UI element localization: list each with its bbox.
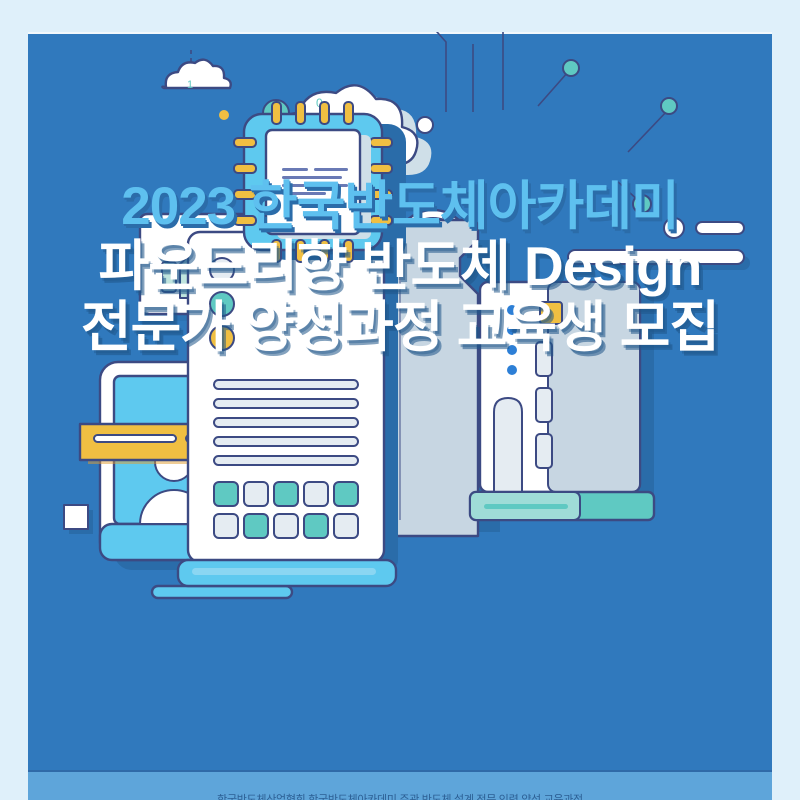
white-square-deco <box>64 505 93 534</box>
poster-card: .o{stroke:#3c4a83;stroke-width:2.4;strok… <box>28 32 772 800</box>
footer-rule <box>28 770 772 772</box>
tower-drive-bays <box>536 342 552 468</box>
footer-band: 한국반도체산업협회 한국반도체아카데미 주관 반도체 설계 전문 인력 양성 교… <box>28 770 772 800</box>
illustration-stage: .o{stroke:#3c4a83;stroke-width:2.4;strok… <box>28 32 772 800</box>
headline-line-1: 2023 한국반도체아카데미 <box>28 180 772 233</box>
illustration-svg: .o{stroke:#3c4a83;stroke-width:2.4;strok… <box>28 32 772 800</box>
monitor-base <box>152 586 292 598</box>
poster-root: .o{stroke:#3c4a83;stroke-width:2.4;strok… <box>0 0 800 800</box>
headline-line-3: 전문가 양성과정 교육생 모집 <box>28 300 772 355</box>
small-cloud-icon: 1 <box>162 48 230 91</box>
svg-text:1: 1 <box>187 79 193 91</box>
headline-block: 2023 한국반도체아카데미 파운드리향 반도체 Design 전문가 양성과정… <box>28 180 772 355</box>
headline-line-2: 파운드리향 반도체 Design <box>28 239 772 294</box>
footer-caption: 한국반도체산업협회 한국반도체아카데미 주관 반도체 설계 전문 인력 양성 교… <box>28 791 772 800</box>
